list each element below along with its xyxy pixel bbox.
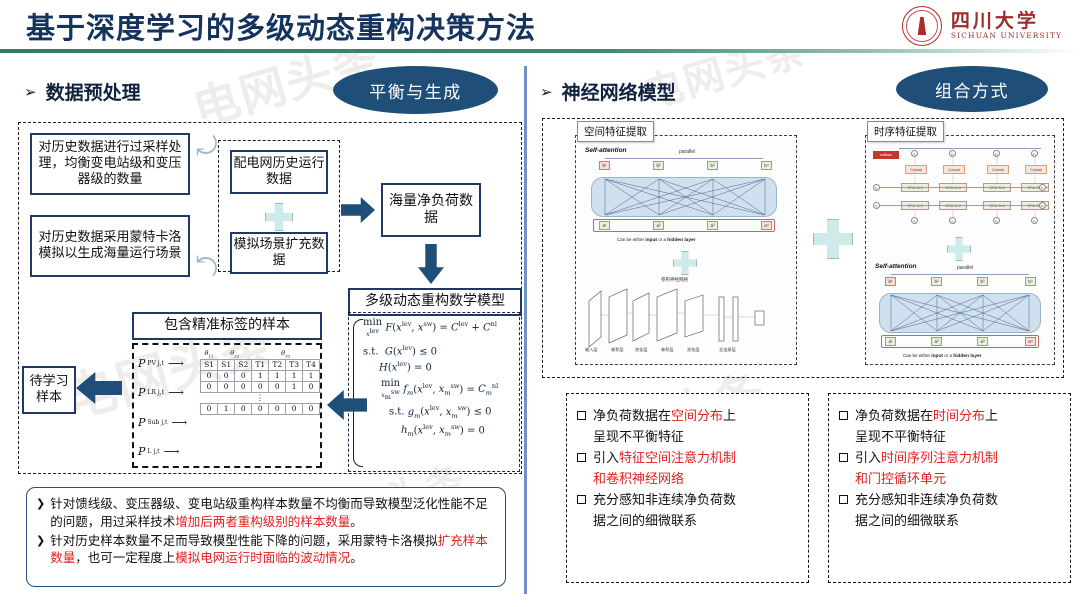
plain-text: 净负荷数据在: [593, 409, 671, 424]
box-netload-data: 海量净负荷数据: [381, 183, 481, 237]
brace-icon: [353, 319, 363, 467]
right-section-title: 神经网络模型: [562, 78, 676, 105]
plain-text: 引入: [855, 451, 881, 466]
recycle-arrow-down-icon: ⤾: [196, 252, 218, 278]
box-simulated-data: 模拟场景扩充数据: [230, 232, 328, 274]
table-row: 0000010: [201, 381, 320, 392]
title-divider-rule: [0, 49, 1080, 53]
self-attention-diagram-temporal: Self-attention parallel b¹ b² b³ b⁴: [873, 263, 1051, 359]
square-bullet-icon: [577, 495, 586, 504]
box-labeled-sample: 包含精准标签的样本: [132, 312, 322, 340]
sample-cell: 1: [218, 403, 235, 414]
highlight-text: 和卷积神经网络: [593, 472, 684, 487]
sample-column-header-row: S1S1S2T1T2T3T4: [201, 359, 320, 370]
left-section-title: 数据预处理: [46, 78, 141, 105]
slide-header: 基于深度学习的多级动态重构决策方法 四川大学 SICHUAN UNIVERSIT…: [0, 0, 1080, 52]
table-row: 0001111: [201, 370, 320, 381]
square-bullet-icon: [839, 495, 848, 504]
box-netload-data-label: 海量净负荷数据: [383, 193, 479, 227]
sample-theta-header-row: θ11θ22θ33: [201, 348, 320, 359]
summary-text: ，也可一定程度上: [75, 550, 175, 565]
sample-cell: 0: [269, 403, 286, 414]
sa2-out-node-4: b⁴: [1025, 277, 1036, 286]
cnn-label-fc: 全连接层: [719, 347, 736, 353]
cnn-label-input: 输入层: [585, 347, 598, 353]
pill-combination-mode: 组合方式: [896, 66, 1048, 112]
sample-cell: 1: [252, 370, 269, 381]
sample-cell: 1: [269, 370, 286, 381]
plain-text: 据之间的细微联系: [593, 514, 697, 529]
summary-text: 。: [350, 550, 363, 565]
summary-line-2-text: 针对历史样本数量不足而导致模型性能下降的问题，采用蒙特卡洛模拟扩充样本数量，也可…: [50, 532, 496, 568]
sa2-in-node-3: a³: [977, 337, 988, 346]
tag-spatial-feature: 空间特征提取: [577, 121, 654, 142]
box-montecarlo: 对历史数据采用蒙特卡洛模拟以生成海量运行场景: [30, 215, 190, 277]
page-title: 基于深度学习的多级动态重构决策方法: [26, 5, 536, 47]
sample-cell: 0: [303, 381, 320, 392]
parallel-label-2: parallel: [957, 265, 973, 271]
sample-column-header: S1: [201, 359, 218, 370]
sample-cell: 0: [252, 381, 269, 392]
sa2-in-node-2: a²: [931, 337, 942, 346]
sample-cell: 0: [218, 370, 235, 381]
plain-text: 净负荷数据在: [855, 409, 933, 424]
model-diagram-region: Self-attention parallel b¹ b² b³ b⁴: [542, 118, 1064, 378]
formula-constraint-4: hm(xlev, xmsw) = 0: [363, 423, 515, 438]
cnn-label-pool2: 池化层: [687, 347, 700, 353]
sample-table-region: PPVj,t⟶ PLRj,t⟶ PSubj,t⟶ PLj,t⟶ θ11θ22θ3…: [132, 343, 322, 468]
sa-out-node-1: b¹: [599, 161, 610, 170]
sa2-caption: Can be either input or a hidden layer: [903, 353, 982, 359]
box-labeled-sample-label: 包含精准标签的样本: [164, 317, 290, 334]
highlight-text: 空间分布: [671, 409, 723, 424]
pill-combination-mode-label: 组合方式: [935, 77, 1009, 102]
plain-text: 上: [985, 409, 998, 424]
sample-variable-labels: PPVj,t⟶ PLRj,t⟶ PSubj,t⟶ PLj,t⟶: [138, 349, 200, 466]
sample-theta-header: θ33: [252, 348, 320, 359]
spatial-bullet-cont: 据之间的细微联系: [577, 511, 798, 532]
box-simulated-data-label: 模拟场景扩充数据: [232, 237, 326, 269]
conclusion-box-temporal: 净负荷数据在时间分布上呈现不平衡特征引入时间序列注意力机制和门控循环单元充分感知…: [828, 393, 1071, 583]
temporal-bullet-cont: 和门控循环单元: [839, 469, 1060, 490]
sample-column-header: T1: [252, 359, 269, 370]
sample-ellipsis-cell: ⋮: [201, 392, 320, 403]
sample-cell: 0: [201, 403, 218, 414]
box-history-data: 配电网历史运行数据: [230, 150, 328, 194]
summary-highlight: 模拟电网运行时面临的波动情况: [175, 550, 350, 565]
logo-name-en: SICHUAN UNIVERSITY: [951, 31, 1062, 40]
sample-theta-header: θ22: [218, 348, 252, 359]
highlight-text: 时间分布: [933, 409, 985, 424]
sample-cell: 0: [303, 403, 320, 414]
square-bullet-icon: [839, 453, 848, 462]
box-oversampling-label: 对历史数据进行过采样处理，均衡变电站级和变压器级的数量: [38, 140, 182, 188]
sample-cell: 0: [235, 381, 252, 392]
temporal-bullet-row: 充分感知非连续净负荷数: [839, 490, 1060, 511]
sa-out-node-2: b²: [653, 161, 664, 170]
plain-text: 呈现不平衡特征: [855, 430, 946, 445]
plain-text: 上: [723, 409, 736, 424]
sa2-connections: [879, 293, 1041, 333]
spatial-bullet-text: 引入特征空间注意力机制: [593, 448, 736, 469]
table-row: ⋮: [201, 392, 320, 403]
torch-icon: [916, 17, 927, 35]
sa2-out-node-3: b³: [977, 277, 988, 286]
highlight-text: 和门控循环单元: [855, 472, 946, 487]
cnn-diagram: 输入层 卷积层 池化层 卷积层 池化层 全连接层: [583, 281, 791, 361]
bigru-diagram: softmax y₁ y₂ y₃ y₄ Concat Concat Concat…: [871, 147, 1049, 239]
box-montecarlo-label: 对历史数据采用蒙特卡洛模拟以生成海量运行场景: [38, 230, 182, 262]
bullet-arrow-icon: ➢: [24, 83, 37, 101]
tag-temporal-feature: 时序特征提取: [867, 121, 944, 142]
sa-out-node-3: b³: [707, 161, 718, 170]
formula-constraint-3: s.t. gm(xlev, xmsw) ≤ 0: [363, 404, 515, 419]
p-label-lr: PLRj,t⟶: [138, 386, 200, 399]
bullet-arrow-icon: ❯: [36, 532, 45, 568]
formula-block: minxlev F(xlev, xsw) = Clev + Cnl s.t. G…: [348, 312, 520, 472]
sample-cell: 0: [235, 370, 252, 381]
p-label-l: PLj,t⟶: [138, 445, 200, 458]
summary-line-1-text: 针对馈线级、变压器级、变电站级重构样本数量不均衡而导致模型泛化性能不足的问题，用…: [50, 495, 496, 531]
self-attention-diagram-spatial: Self-attention parallel b¹ b² b³ b⁴: [581, 147, 791, 247]
panel-divider: [524, 66, 527, 594]
sample-theta-header: θ11: [201, 348, 218, 359]
sa-caption: Can be either input or a hidden layer: [617, 237, 696, 243]
bullet-arrow-icon: ➢: [540, 83, 553, 101]
sa-in-node-4: a⁴: [761, 221, 772, 230]
sample-cell: 1: [286, 370, 303, 381]
logo-text: 四川大学 SICHUAN UNIVERSITY: [951, 12, 1062, 41]
table-row: 0100000: [201, 403, 320, 414]
sample-column-header: T3: [286, 359, 303, 370]
recycle-arrow-up-icon: ⤾: [196, 133, 218, 159]
sample-cell: 0: [218, 381, 235, 392]
sa2-in-node-4: a⁴: [1025, 337, 1036, 346]
pill-balance-generate-label: 平衡与生成: [369, 78, 462, 103]
sa2-out-node-2: b²: [931, 277, 942, 286]
left-summary-box: ❯ 针对馈线级、变压器级、变电站级重构样本数量不均衡而导致模型泛化性能不足的问题…: [26, 487, 506, 587]
spatial-bullet-cont: 呈现不平衡特征: [577, 427, 798, 448]
plain-text: 呈现不平衡特征: [593, 430, 684, 445]
sample-matrix-table: θ11θ22θ33S1S1S2T1T2T3T400011110000010⋮01…: [200, 348, 320, 415]
plain-text: 据之间的细微联系: [855, 514, 959, 529]
formula-constraint-1: s.t. G(xlev) ≤ 0: [363, 344, 515, 357]
sample-column-header: T2: [269, 359, 286, 370]
temporal-bullet-text: 引入时间序列注意力机制: [855, 448, 998, 469]
formula-objective: minxlev F(xlev, xsw) = Clev + Cnl: [363, 318, 515, 338]
summary-line-1: ❯ 针对馈线级、变压器级、变电站级重构样本数量不均衡而导致模型泛化性能不足的问题…: [36, 495, 496, 531]
conclusion-box-spatial: 净负荷数据在空间分布上呈现不平衡特征引入特征空间注意力机制和卷积神经网络充分感知…: [566, 393, 809, 583]
summary-text: 针对历史样本数量不足而导致模型性能下降的问题，采用蒙特卡洛模拟: [50, 533, 438, 548]
plus-icon-large: [813, 219, 853, 259]
spatial-bullet-text: 净负荷数据在空间分布上: [593, 406, 736, 427]
plain-text: 充分感知非连续净负荷数: [593, 493, 736, 508]
logo-name-cn: 四川大学: [951, 12, 1039, 32]
box-history-data-label: 配电网历史运行数据: [232, 156, 326, 188]
temporal-bullet-cont: 据之间的细微联系: [839, 511, 1060, 532]
box-math-model-label: 多级动态重构数学模型: [365, 293, 505, 310]
spatial-bullet-text: 充分感知非连续净负荷数: [593, 490, 736, 511]
sample-cell: 0: [286, 403, 303, 414]
temporal-bullet-row: 引入时间序列注意力机制: [839, 448, 1060, 469]
self-attention-title: Self-attention: [585, 147, 627, 154]
self-attention-title-2: Self-attention: [875, 263, 917, 270]
right-section-heading: ➢ 神经网络模型: [540, 78, 676, 105]
cnn-label-conv2: 卷积层: [661, 347, 674, 353]
temporal-bullet-row: 净负荷数据在时间分布上: [839, 406, 1060, 427]
box-samples-to-learn: 待学习样本: [22, 366, 76, 414]
sa2-input-row: [881, 335, 1039, 348]
university-logo: 四川大学 SICHUAN UNIVERSITY: [902, 4, 1062, 48]
rnn-wires: [871, 147, 1049, 239]
square-bullet-icon: [577, 453, 586, 462]
parallel-label: parallel: [679, 149, 695, 155]
spatial-bullet-row: 充分感知非连续净负荷数: [577, 490, 798, 511]
bullet-arrow-icon: ❯: [36, 495, 45, 531]
sa-in-node-1: a¹: [599, 221, 610, 230]
p-label-sub: PSubj,t⟶: [138, 416, 200, 429]
summary-text: 。: [350, 514, 363, 529]
sample-cell: 0: [252, 403, 269, 414]
plain-text: 引入: [593, 451, 619, 466]
highlight-text: 特征空间注意力机制: [619, 451, 736, 466]
sa-in-node-3: a³: [707, 221, 718, 230]
sa-in-node-2: a²: [653, 221, 664, 230]
square-bullet-icon: [577, 411, 586, 420]
temporal-bullet-text: 净负荷数据在时间分布上: [855, 406, 998, 427]
temporal-bullet-text: 充分感知非连续净负荷数: [855, 490, 998, 511]
cnn-label-pool1: 池化层: [635, 347, 648, 353]
box-samples-to-learn-label: 待学习样本: [24, 374, 74, 406]
sample-column-header: T4: [303, 359, 320, 370]
sa2-in-node-1: a¹: [885, 337, 896, 346]
sample-cell: 1: [303, 370, 320, 381]
summary-line-2: ❯ 针对历史样本数量不足而导致模型性能下降的问题，采用蒙特卡洛模拟扩充样本数量，…: [36, 532, 496, 568]
box-oversampling: 对历史数据进行过采样处理，均衡变电站级和变压器级的数量: [30, 133, 190, 195]
sample-cell: 0: [201, 381, 218, 392]
sa-input-row: [593, 219, 775, 232]
p-label-pv: PPVj,t⟶: [138, 357, 200, 370]
sa-connections: [591, 177, 777, 217]
sichuan-university-seal-icon: [902, 6, 942, 46]
slide-page: 电网头条 电网头条 电网头条 电网头条 电网头条 电网头条 基于深度学习的多级动…: [0, 0, 1080, 607]
sample-cell: 0: [201, 370, 218, 381]
formula-inner-objective: minxmsw fm(xlev, xmsw) = Cmnl: [363, 379, 515, 401]
sample-cell: 0: [235, 403, 252, 414]
sample-cell: 1: [286, 381, 303, 392]
pill-balance-generate: 平衡与生成: [333, 66, 498, 114]
sample-column-header: S2: [235, 359, 252, 370]
highlight-text: 时间序列注意力机制: [881, 451, 998, 466]
spatial-bullet-row: 引入特征空间注意力机制: [577, 448, 798, 469]
sample-column-header: S1: [218, 359, 235, 370]
sample-cell: 0: [269, 381, 286, 392]
spatial-bullet-cont: 和卷积神经网络: [577, 469, 798, 490]
temporal-bullet-cont: 呈现不平衡特征: [839, 427, 1060, 448]
sa-out-node-4: b⁴: [761, 161, 772, 170]
plain-text: 充分感知非连续净负荷数: [855, 493, 998, 508]
sa2-out-node-1: b¹: [885, 277, 896, 286]
spatial-bullet-row: 净负荷数据在空间分布上: [577, 406, 798, 427]
formula-constraint-2: H(xlev) = 0: [363, 360, 515, 373]
left-section-heading: ➢ 数据预处理: [24, 78, 141, 105]
cnn-label-conv1: 卷积层: [611, 347, 624, 353]
summary-highlight: 增加后两者重构级别的样本数量: [175, 514, 350, 529]
square-bullet-icon: [839, 411, 848, 420]
